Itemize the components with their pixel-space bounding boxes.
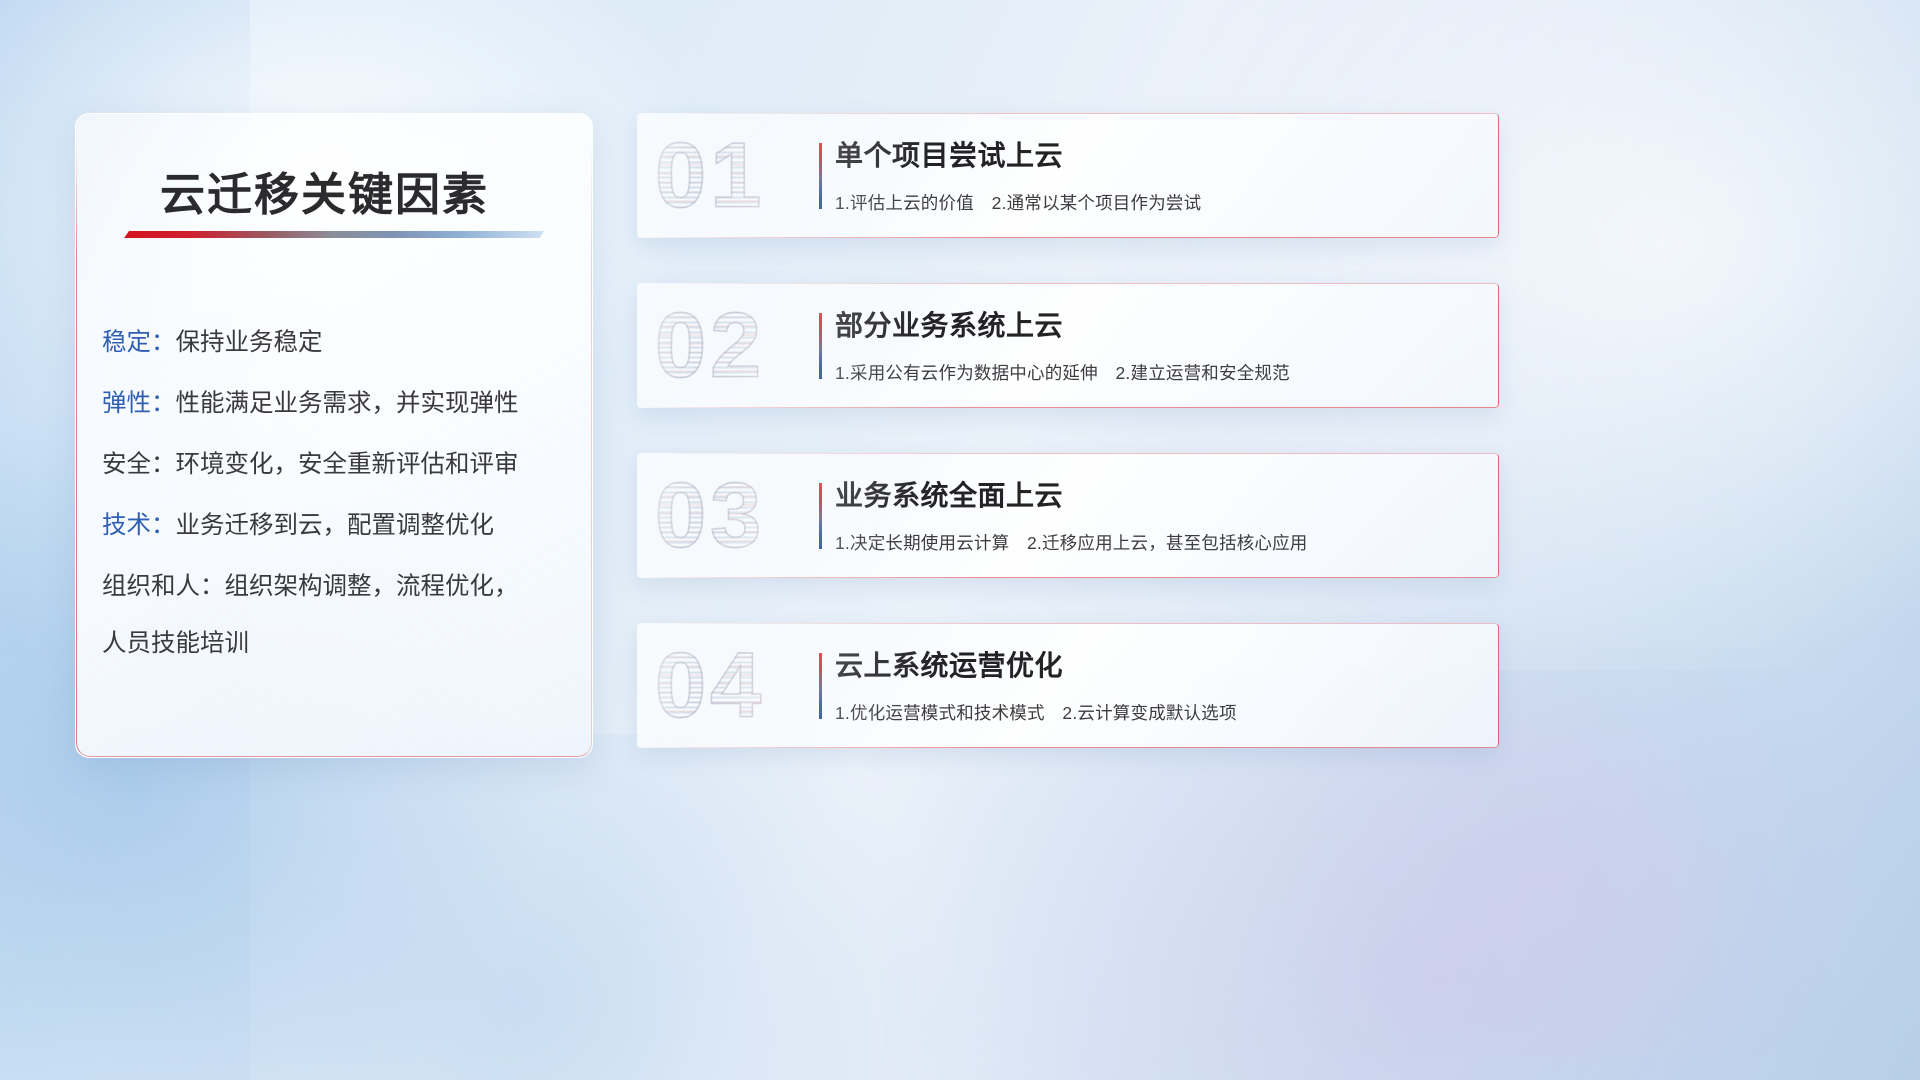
factor-row: 人员技能培训 bbox=[102, 611, 572, 672]
page-title: 云迁移关键因素 bbox=[160, 158, 489, 223]
card-title: 云上系统运营优化 bbox=[835, 644, 1479, 684]
card-body: 云上系统运营优化1.优化运营模式和技术模式 2.云计算变成默认选项 bbox=[835, 644, 1479, 725]
card-body: 业务系统全面上云1.决定长期使用云计算 2.迁移应用上云，甚至包括核心应用 bbox=[835, 474, 1479, 555]
card-accent-bar bbox=[819, 143, 822, 209]
factor-text: 组织架构调整，流程优化， bbox=[225, 567, 519, 602]
factor-text: 人员技能培训 bbox=[102, 624, 249, 659]
factor-label: 稳定： bbox=[102, 323, 176, 358]
factor-label: 组织和人： bbox=[102, 567, 225, 602]
card-description: 1.采用公有云作为数据中心的延伸 2.建立运营和安全规范 bbox=[835, 360, 1479, 385]
card-accent-bar bbox=[819, 313, 822, 379]
card-title: 单个项目尝试上云 bbox=[835, 134, 1479, 174]
card-body: 单个项目尝试上云1.评估上云的价值 2.通常以某个项目作为尝试 bbox=[835, 134, 1479, 215]
stage-card[interactable]: 0404云上系统运营优化1.优化运营模式和技术模式 2.云计算变成默认选项 bbox=[637, 623, 1499, 748]
stage-card[interactable]: 0303业务系统全面上云1.决定长期使用云计算 2.迁移应用上云，甚至包括核心应… bbox=[637, 453, 1499, 578]
factor-row: 稳定：保持业务稳定 bbox=[102, 310, 572, 371]
card-description: 1.优化运营模式和技术模式 2.云计算变成默认选项 bbox=[835, 700, 1479, 725]
factor-row: 技术：业务迁移到云，配置调整优化 bbox=[102, 493, 572, 554]
factor-row: 安全：环境变化，安全重新评估和评审 bbox=[102, 432, 572, 493]
factor-text: 性能满足业务需求，并实现弹性 bbox=[176, 384, 519, 419]
card-step-number: 04 bbox=[655, 633, 765, 738]
factor-text: 保持业务稳定 bbox=[176, 323, 323, 358]
stage-card[interactable]: 0202部分业务系统上云1.采用公有云作为数据中心的延伸 2.建立运营和安全规范 bbox=[637, 283, 1499, 408]
factor-text: 业务迁移到云，配置调整优化 bbox=[176, 506, 495, 541]
slide-stage: 云迁移关键因素 稳定：保持业务稳定弹性：性能满足业务需求，并实现弹性安全：环境变… bbox=[0, 0, 1920, 1080]
stage-card[interactable]: 0101单个项目尝试上云1.评估上云的价值 2.通常以某个项目作为尝试 bbox=[637, 113, 1499, 238]
factor-row: 弹性：性能满足业务需求，并实现弹性 bbox=[102, 371, 572, 432]
card-step-number: 02 bbox=[655, 293, 765, 398]
factor-label: 弹性： bbox=[102, 384, 176, 419]
factor-list: 稳定：保持业务稳定弹性：性能满足业务需求，并实现弹性安全：环境变化，安全重新评估… bbox=[102, 310, 572, 672]
card-accent-bar bbox=[819, 653, 822, 719]
card-step-number: 01 bbox=[655, 123, 765, 228]
factor-label: 技术： bbox=[102, 506, 176, 541]
key-factors-panel: 云迁移关键因素 稳定：保持业务稳定弹性：性能满足业务需求，并实现弹性安全：环境变… bbox=[75, 113, 593, 758]
factor-text: 环境变化，安全重新评估和评审 bbox=[176, 445, 519, 480]
card-description: 1.决定长期使用云计算 2.迁移应用上云，甚至包括核心应用 bbox=[835, 530, 1479, 555]
card-accent-bar bbox=[819, 483, 822, 549]
factor-row: 组织和人：组织架构调整，流程优化， bbox=[102, 554, 572, 615]
card-body: 部分业务系统上云1.采用公有云作为数据中心的延伸 2.建立运营和安全规范 bbox=[835, 304, 1479, 385]
title-underline-gradient bbox=[124, 231, 544, 238]
card-title: 业务系统全面上云 bbox=[835, 474, 1479, 514]
card-step-number: 03 bbox=[655, 463, 765, 568]
card-description: 1.评估上云的价值 2.通常以某个项目作为尝试 bbox=[835, 190, 1479, 215]
card-title: 部分业务系统上云 bbox=[835, 304, 1479, 344]
stage-card-list: 0101单个项目尝试上云1.评估上云的价值 2.通常以某个项目作为尝试0202部… bbox=[637, 113, 1499, 748]
factor-label: 安全： bbox=[102, 445, 176, 480]
